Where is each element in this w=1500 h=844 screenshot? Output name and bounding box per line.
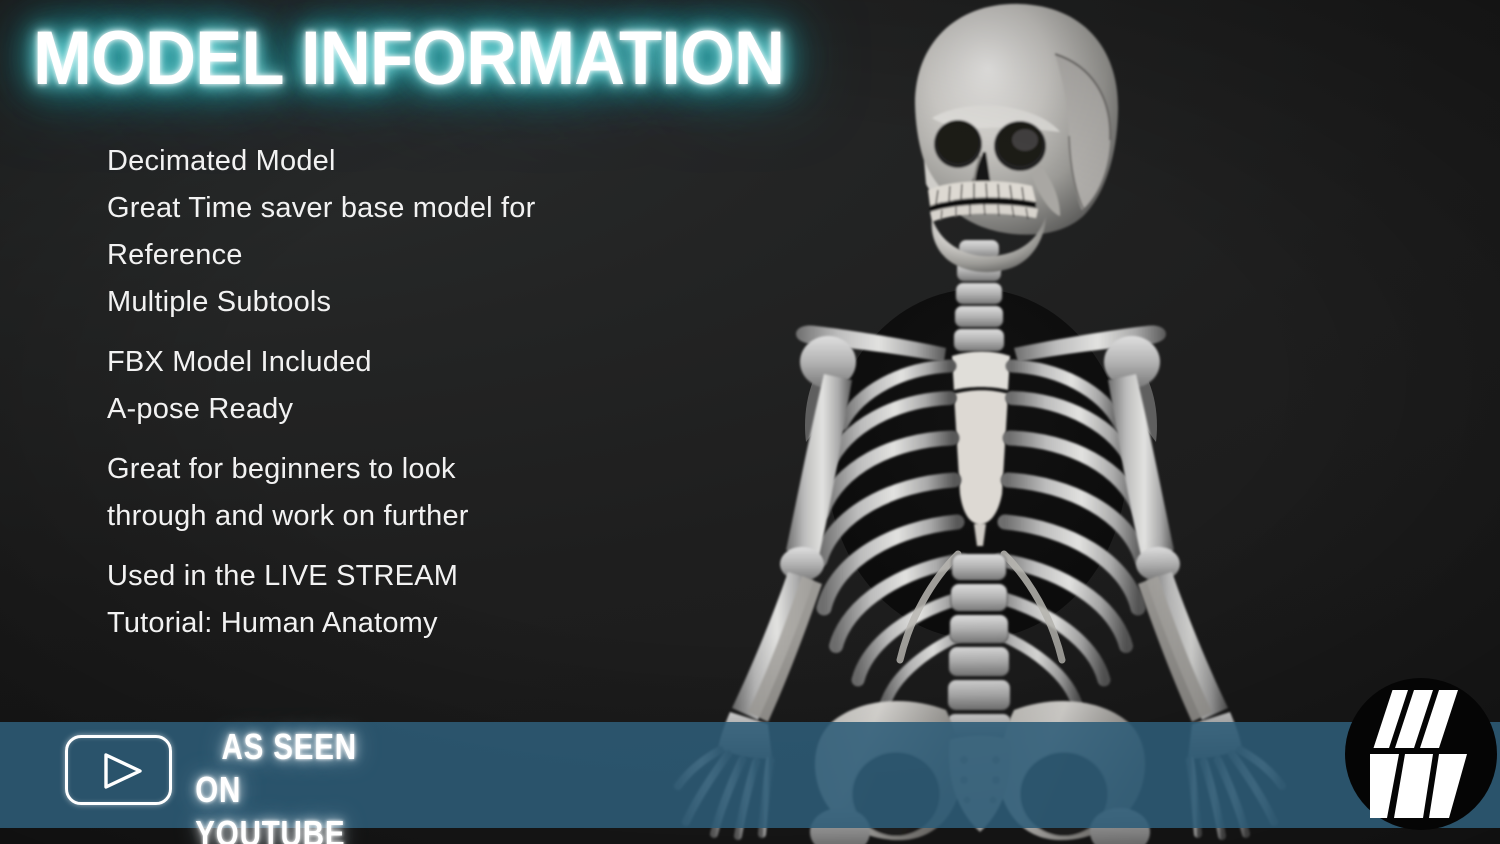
studio-monogram-logo[interactable] [1345, 678, 1497, 830]
model-information-slide: MODEL INFORMATION Decimated Model Great … [0, 0, 1500, 844]
feature-line: Reference [107, 232, 667, 279]
feature-line: Used in the LIVE STREAM [107, 553, 667, 600]
feature-block: Used in the LIVE STREAM Tutorial: Human … [107, 553, 667, 647]
feature-block: Great for beginners to look through and … [107, 446, 667, 540]
feature-block: FBX Model Included A-pose Ready [107, 339, 667, 433]
feature-line: Tutorial: Human Anatomy [107, 600, 667, 647]
feature-line: Great for beginners to look [107, 446, 667, 493]
play-button[interactable] [65, 735, 172, 805]
as-seen-on-youtube-text: AS SEEN ON YOUTUBE [192, 726, 432, 844]
feature-line: Multiple Subtools [107, 279, 667, 326]
feature-line: FBX Model Included [107, 339, 667, 386]
feature-line: Great Time saver base model for [107, 185, 667, 232]
banner-line-2: ON YOUTUBE [192, 768, 389, 844]
feature-line: through and work on further [107, 493, 667, 540]
feature-line: A-pose Ready [107, 386, 667, 433]
feature-list: Decimated Model Great Time saver base mo… [107, 138, 667, 660]
page-title: MODEL INFORMATION [33, 16, 784, 102]
feature-line: Decimated Model [107, 138, 667, 185]
play-triangle-icon [68, 738, 169, 802]
feature-block: Decimated Model Great Time saver base mo… [107, 138, 667, 326]
banner-line-1: AS SEEN [192, 726, 389, 768]
